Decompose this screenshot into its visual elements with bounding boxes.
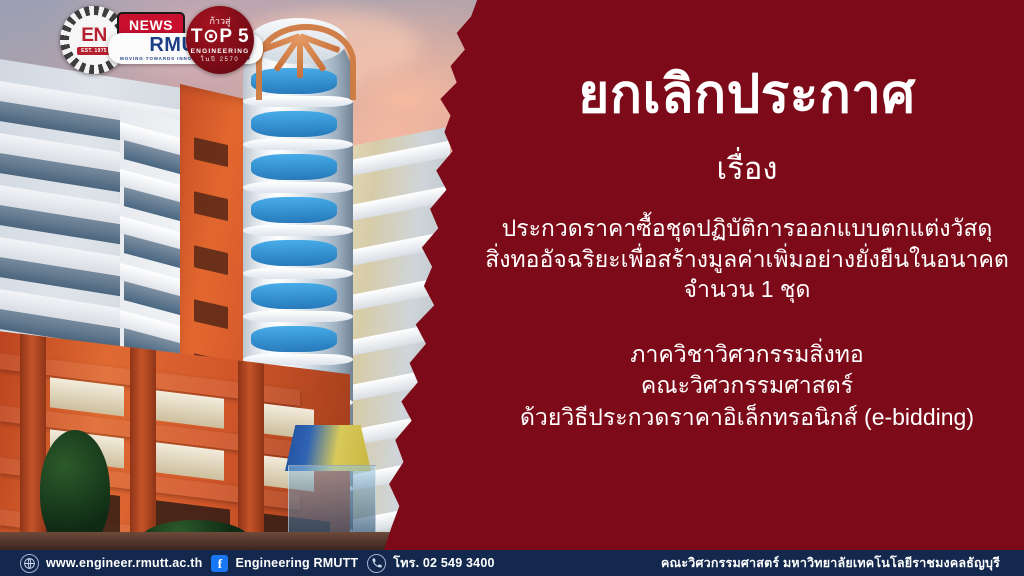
footer-phone[interactable]: โทร. 02 549 3400 bbox=[367, 553, 494, 573]
en-abbr: EN bbox=[81, 26, 106, 45]
phone-icon bbox=[367, 554, 386, 573]
tower-ring bbox=[243, 268, 353, 279]
facebook-icon: f bbox=[211, 555, 228, 572]
podium-window bbox=[150, 442, 224, 481]
page-title: ยกเลิกประกาศ bbox=[578, 66, 915, 124]
podium-column bbox=[130, 347, 156, 550]
footer-phone-label: โทร. 02 549 3400 bbox=[393, 553, 494, 573]
tower-window-band bbox=[251, 111, 337, 137]
logo-row: EN EST. 1975 NEWS RMUTT MOVING TOWARDS I… bbox=[0, 0, 300, 80]
footer-bar: www.engineer.rmutt.ac.th f Engineering R… bbox=[0, 550, 1024, 576]
tower-window-band bbox=[251, 283, 337, 309]
tower-ring bbox=[243, 139, 353, 150]
org-line: ภาควิชาวิศวกรรมสิ่งทอ bbox=[520, 339, 974, 371]
pier-slot bbox=[194, 191, 228, 221]
org-line: คณะวิศวกรรมศาสตร์ bbox=[520, 370, 974, 402]
footer-contacts: www.engineer.rmutt.ac.th f Engineering R… bbox=[0, 553, 495, 573]
top5-engineering-badge: ก้าวสู่ T⊙P 5 ENGINEERING ในปี 2570 bbox=[186, 6, 254, 74]
body-line: ประกวดราคาซื้อชุดปฏิบัติการออกแบบตกแต่งว… bbox=[485, 213, 1009, 243]
footer-website[interactable]: www.engineer.rmutt.ac.th bbox=[20, 554, 202, 573]
top5-line2: T⊙P 5 bbox=[191, 27, 249, 46]
announcement-poster: EN EST. 1975 NEWS RMUTT MOVING TOWARDS I… bbox=[0, 0, 1024, 576]
tower-ring bbox=[243, 311, 353, 322]
tower-window-band bbox=[251, 240, 337, 266]
tower-window-band bbox=[251, 197, 337, 223]
pier-slot bbox=[194, 245, 228, 275]
footer-website-label: www.engineer.rmutt.ac.th bbox=[46, 556, 202, 570]
pier-slot bbox=[194, 299, 228, 329]
globe-icon bbox=[20, 554, 39, 573]
footer-facebook-label: Engineering RMUTT bbox=[235, 556, 358, 570]
tower-window-band bbox=[251, 326, 337, 352]
footer-facebook[interactable]: f Engineering RMUTT bbox=[211, 555, 358, 572]
podium-window bbox=[150, 390, 224, 429]
announcement-content: ยกเลิกประกาศ เรื่อง ประกวดราคาซื้อชุดปฏิ… bbox=[470, 0, 1024, 550]
tower-ring bbox=[243, 225, 353, 236]
podium-column bbox=[238, 360, 264, 550]
tower-window-band bbox=[251, 154, 337, 180]
tower-ring bbox=[243, 182, 353, 193]
top5-line4: ในปี 2570 bbox=[201, 57, 240, 63]
top5-line3: ENGINEERING bbox=[191, 49, 250, 56]
footer-organization: คณะวิศวกรรมศาสตร์ มหาวิทยาลัยเทคโนโลยีรา… bbox=[661, 553, 1024, 573]
en-established: EST. 1975 bbox=[77, 47, 111, 55]
top5-line1: ก้าวสู่ bbox=[209, 17, 230, 26]
body-line: จำนวน 1 ชุด bbox=[485, 274, 1009, 304]
pier-slot bbox=[194, 137, 228, 167]
org-line: ด้วยวิธีประกวดราคาอิเล็กทรอนิกส์ (e-bidd… bbox=[520, 402, 974, 434]
body-line: สิ่งทออัจฉริยะเพื่อสร้างมูลค่าเพิ่มอย่าง… bbox=[485, 244, 1009, 274]
announcement-organization: ภาควิชาวิศวกรรมสิ่งทอคณะวิศวกรรมศาสตร์ด้… bbox=[520, 339, 974, 434]
podium-window bbox=[50, 377, 124, 416]
announcement-body: ประกวดราคาซื้อชุดปฏิบัติการออกแบบตกแต่งว… bbox=[485, 213, 1009, 304]
subject-label: เรื่อง bbox=[716, 150, 777, 187]
